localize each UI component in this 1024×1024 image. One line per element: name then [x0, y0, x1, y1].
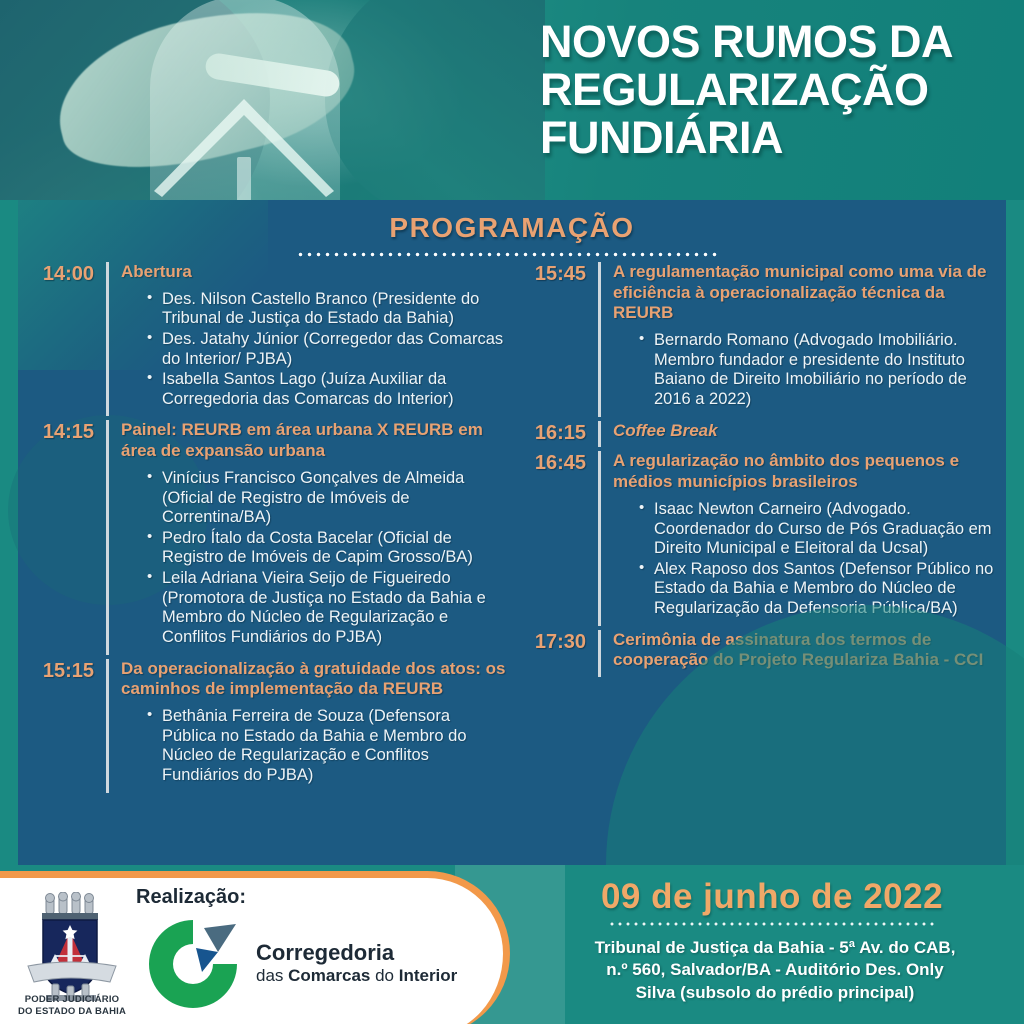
corregedoria-sub-mid: do	[370, 966, 398, 985]
list-item: Des. Jatahy Júnior (Corregedor das Comar…	[147, 330, 506, 369]
event-venue: Tribunal de Justiça da Bahia - 5ª Av. do…	[560, 937, 990, 1004]
program-item-body: Cerimônia de assinatura dos termos de co…	[598, 630, 998, 677]
list-item: Pedro Ítalo da Costa Bacelar (Oficial de…	[147, 529, 506, 568]
venue-line-3: Silva (subsolo do prédio principal)	[560, 982, 990, 1004]
program-item-time: 14:00	[26, 262, 106, 416]
program-item: 14:00AberturaDes. Nilson Castello Branco…	[26, 262, 506, 416]
program-item-body: AberturaDes. Nilson Castello Branco (Pre…	[106, 262, 506, 416]
title-line-2: REGULARIZAÇÃO	[540, 66, 1010, 114]
program-columns: 14:00AberturaDes. Nilson Castello Branco…	[18, 262, 1006, 862]
list-item: Des. Nilson Castello Branco (Presidente …	[147, 290, 506, 329]
sleeve-shape-right	[325, 0, 545, 200]
program-item: 17:30Cerimônia de assinatura dos termos …	[518, 630, 998, 677]
corregedoria-subtitle: das Comarcas do Interior	[256, 966, 457, 986]
header-photo	[0, 0, 545, 200]
title-line-1: NOVOS RUMOS DA	[540, 18, 1010, 66]
list-item: Vinícius Francisco Gonçalves de Almeida …	[147, 469, 506, 528]
program-item-time: 16:15	[518, 421, 598, 448]
list-item: Bethânia Ferreira de Souza (Defensora Pú…	[147, 707, 506, 786]
program-item-time: 15:45	[518, 262, 598, 417]
program-column-left: 14:00AberturaDes. Nilson Castello Branco…	[26, 262, 506, 797]
program-panel: PROGRAMAÇÃO 14:00AberturaDes. Nilson Cas…	[18, 200, 1006, 865]
list-item: Isabella Santos Lago (Juíza Auxiliar da …	[147, 370, 506, 409]
poster-header: NOVOS RUMOS DA REGULARIZAÇÃO FUNDIÁRIA	[0, 0, 1024, 200]
program-item-subject: Coffee Break	[613, 421, 998, 442]
program-item-body: A regulamentação municipal como uma via …	[598, 262, 998, 417]
program-item: 16:45A regularização no âmbito dos peque…	[518, 451, 998, 625]
title-line-3: FUNDIÁRIA	[540, 114, 1010, 162]
program-item-subject: Painel: REURB em área urbana X REURB em …	[121, 420, 506, 461]
program-item: 15:45A regulamentação municipal como uma…	[518, 262, 998, 417]
program-item-body: Painel: REURB em área urbana X REURB em …	[106, 420, 506, 654]
program-item-subject: A regularização no âmbito dos pequenos e…	[613, 451, 998, 492]
corregedoria-sub-comarcas: Comarcas	[288, 966, 370, 985]
corregedoria-logo-icon	[140, 914, 246, 1014]
list-item: Leila Adriana Vieira Seijo de Figueiredo…	[147, 569, 506, 648]
page-title: NOVOS RUMOS DA REGULARIZAÇÃO FUNDIÁRIA	[540, 18, 1010, 162]
program-item-body: Coffee Break	[598, 421, 998, 448]
corregedoria-name: Corregedoria	[256, 940, 457, 965]
program-item-speakers: Isaac Newton Carneiro (Advogado. Coorden…	[639, 500, 998, 619]
list-item: Isaac Newton Carneiro (Advogado. Coorden…	[639, 500, 998, 559]
crest-label-line-2: DO ESTADO DA BAHIA	[8, 1006, 136, 1018]
date-dotted-divider	[608, 922, 938, 926]
house-icon	[150, 95, 338, 200]
program-item-speakers: Bernardo Romano (Advogado Imobiliário. M…	[639, 331, 998, 410]
program-item-speakers: Bethânia Ferreira de Souza (Defensora Pú…	[147, 707, 506, 786]
program-item: 16:15Coffee Break	[518, 421, 998, 448]
program-item: 14:15Painel: REURB em área urbana X REUR…	[26, 420, 506, 654]
program-item-time: 16:45	[518, 451, 598, 625]
sponsor-card: PODER JUDICIÁRIO DO ESTADO DA BAHIA Real…	[0, 871, 510, 1024]
program-item-time: 17:30	[518, 630, 598, 677]
corregedoria-sub-pre: das	[256, 966, 288, 985]
corregedoria-text: Corregedoria das Comarcas do Interior	[256, 940, 457, 987]
program-item-speakers: Des. Nilson Castello Branco (Presidente …	[147, 290, 506, 410]
program-item-body: Da operacionalização à gratuidade dos at…	[106, 659, 506, 793]
pjba-crest-icon	[22, 892, 122, 1010]
program-item-body: A regularização no âmbito dos pequenos e…	[598, 451, 998, 625]
list-item: Bernardo Romano (Advogado Imobiliário. M…	[639, 331, 998, 410]
program-item-time: 14:15	[26, 420, 106, 654]
event-date: 09 de junho de 2022	[520, 877, 1024, 917]
event-poster: NOVOS RUMOS DA REGULARIZAÇÃO FUNDIÁRIA P…	[0, 0, 1024, 1024]
venue-line-1: Tribunal de Justiça da Bahia - 5ª Av. do…	[560, 937, 990, 959]
list-item: Alex Raposo dos Santos (Defensor Público…	[639, 560, 998, 619]
venue-line-2: n.º 560, Salvador/BA - Auditório Des. On…	[560, 959, 990, 981]
corregedoria-sub-interior: Interior	[399, 966, 458, 985]
poster-footer: PODER JUDICIÁRIO DO ESTADO DA BAHIA Real…	[0, 865, 1024, 1024]
program-item-subject: Da operacionalização à gratuidade dos at…	[121, 659, 506, 700]
realizacao-label: Realização:	[136, 886, 336, 909]
crest-label-line-1: PODER JUDICIÁRIO	[8, 994, 136, 1006]
program-item-speakers: Vinícius Francisco Gonçalves de Almeida …	[147, 469, 506, 648]
program-item-subject: A regulamentação municipal como uma via …	[613, 262, 998, 324]
program-item-subject: Abertura	[121, 262, 506, 283]
program-heading: PROGRAMAÇÃO	[18, 212, 1006, 244]
program-item-subject: Cerimônia de assinatura dos termos de co…	[613, 630, 998, 671]
dotted-divider	[296, 252, 721, 257]
program-item: 15:15Da operacionalização à gratuidade d…	[26, 659, 506, 793]
program-item-time: 15:15	[26, 659, 106, 793]
crest-label: PODER JUDICIÁRIO DO ESTADO DA BAHIA	[8, 994, 136, 1017]
program-column-right: 15:45A regulamentação municipal como uma…	[518, 262, 998, 681]
